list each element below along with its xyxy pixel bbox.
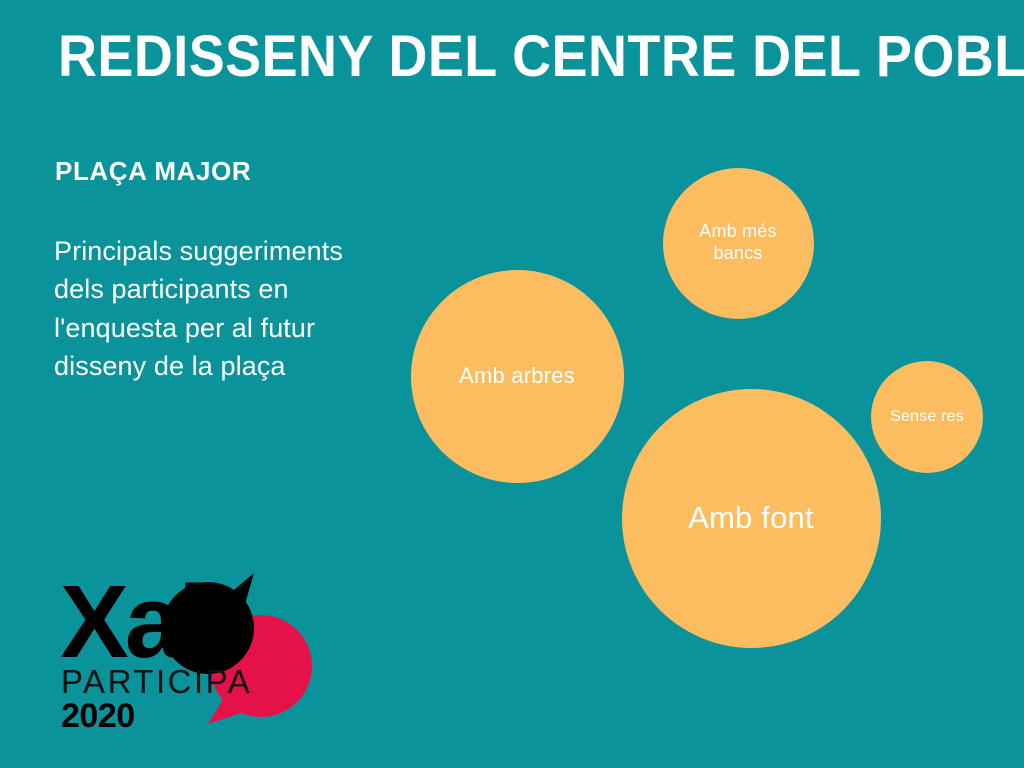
xalo-participa-logo: Xal PARTICIPA 2020 Xalo PARTICIPA 2020 — [58, 560, 318, 730]
logo-svg: Xal PARTICIPA 2020 — [58, 560, 318, 730]
logo-year-text: 2020 — [61, 697, 135, 730]
bubble-amb-font[interactable]: Amb font — [622, 389, 881, 648]
logo-tagline-text: PARTICIPA — [61, 663, 252, 700]
bubble-label: Sense res — [882, 407, 972, 427]
bubble-amb-mes-bancs[interactable]: Amb més bancs — [663, 168, 814, 319]
bubble-label: Amb arbres — [451, 363, 583, 390]
slide-canvas: REDISSENY DEL CENTRE DEL POBLE PLAÇA MAJ… — [0, 0, 1024, 768]
bubble-amb-arbres[interactable]: Amb arbres — [411, 270, 624, 483]
logo-wordmark-text: Xal — [60, 564, 203, 679]
bubble-label: Amb més bancs — [670, 221, 807, 265]
bubble-label: Amb font — [680, 499, 822, 537]
bubble-sense-res[interactable]: Sense res — [871, 361, 983, 473]
